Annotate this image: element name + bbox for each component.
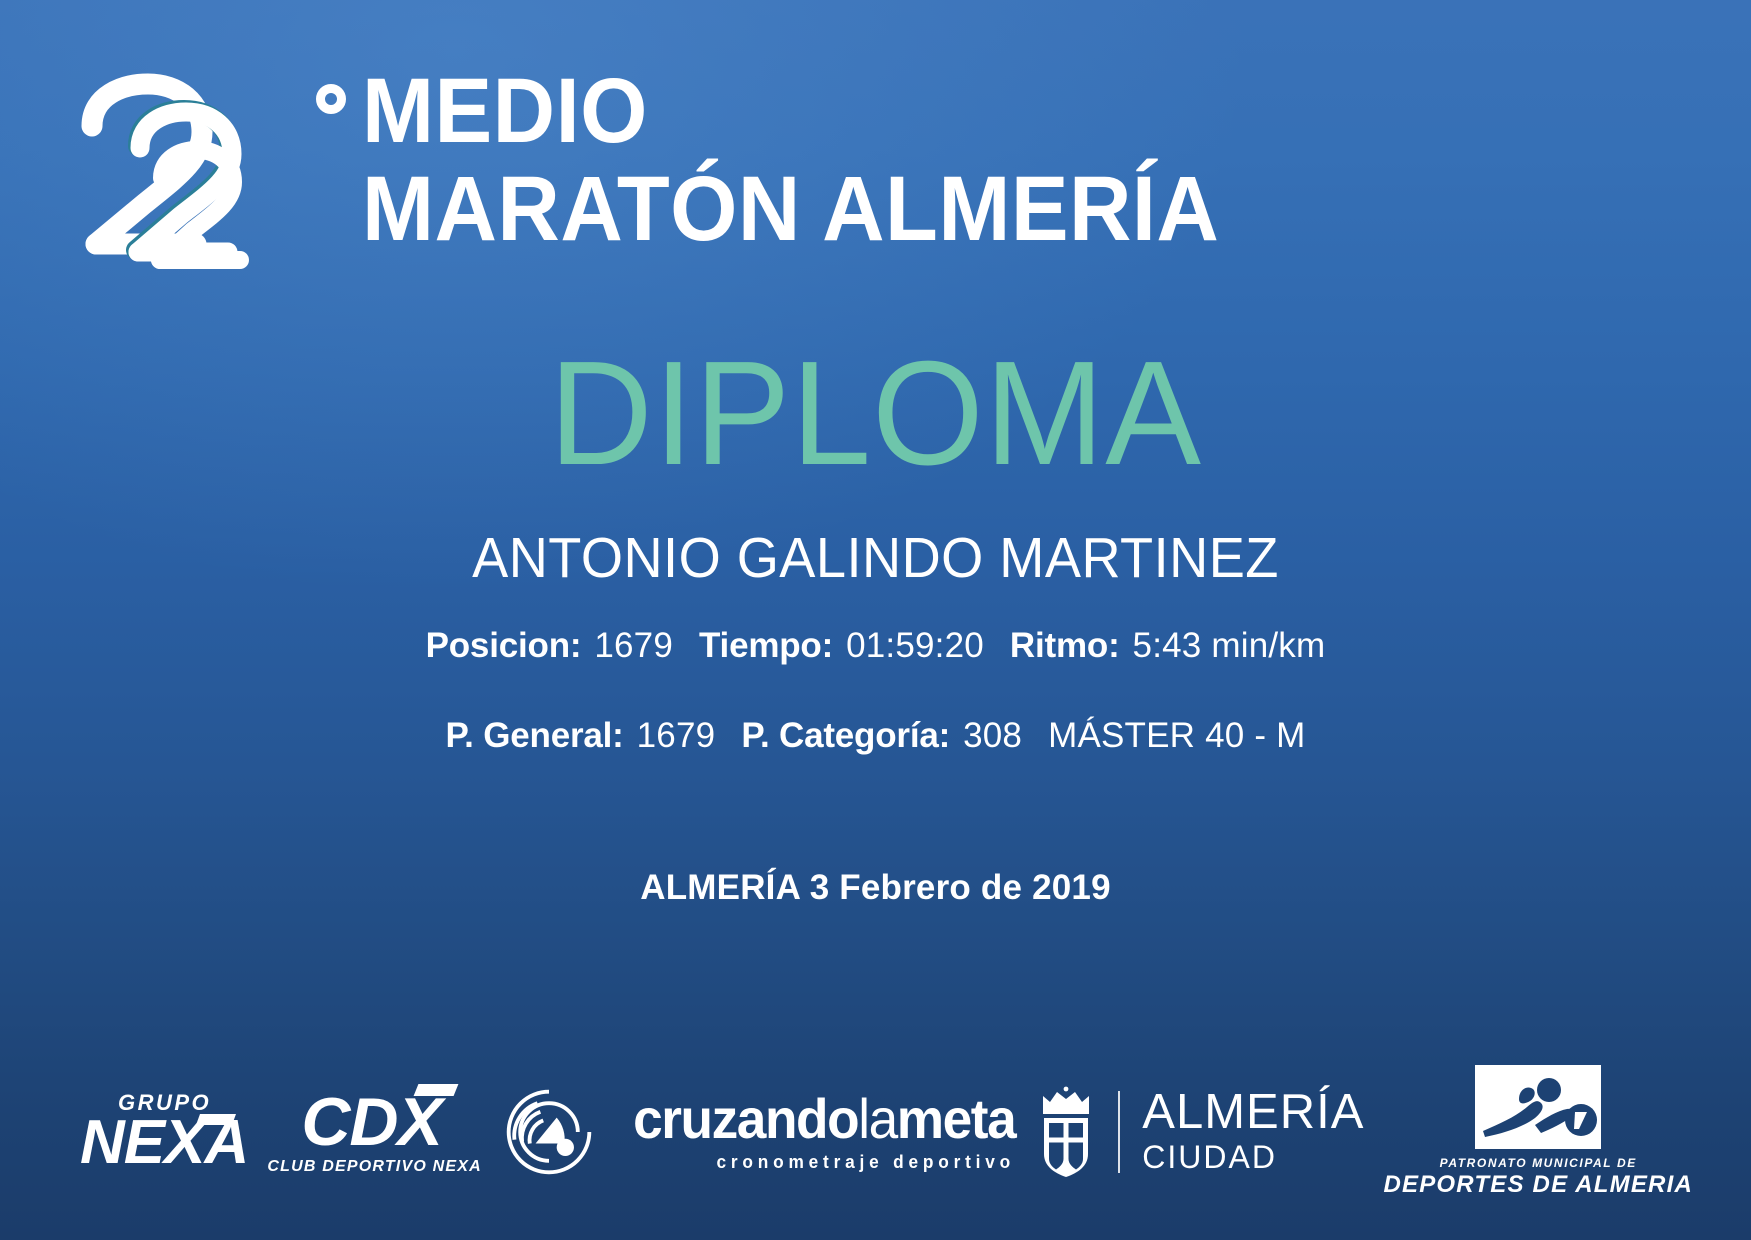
cdx-wordmark: CDX <box>301 1088 448 1156</box>
almeria-coat-of-arms-icon <box>1034 1084 1098 1180</box>
category-name: MÁSTER 40 - M <box>1048 716 1305 755</box>
results-row-secondary: P. General:1679P. Categoría:308MÁSTER 40… <box>0 716 1751 756</box>
position-value: 1679 <box>594 626 673 665</box>
general-position-value: 1679 <box>637 716 716 755</box>
sponsor-logo-cdx: CDX CLUB DEPORTIVO NEXA <box>267 1088 482 1176</box>
event-place-and-date: ALMERÍA 3 Febrero de 2019 <box>0 868 1751 908</box>
patronato-athlete-icon <box>1475 1065 1601 1149</box>
cdx-subtitle: CLUB DEPORTIVO NEXA <box>267 1158 482 1176</box>
general-position-label: P. General: <box>446 716 624 755</box>
patronato-line-2: DEPORTES DE ALMERIA <box>1383 1171 1693 1199</box>
position-label: Posicion: <box>426 626 582 665</box>
sponsor-logo-patronato-deportes: PATRONATO MUNICIPAL DE DEPORTES DE ALMER… <box>1383 1065 1693 1199</box>
cruzandolameta-subtitle: cronometraje deportivo <box>717 1152 1016 1173</box>
almeria-logo-divider <box>1118 1091 1120 1173</box>
patronato-line-1: PATRONATO MUNICIPAL DE <box>1440 1156 1637 1170</box>
nexa-slash-icon <box>196 1114 236 1125</box>
cruzandolameta-part-la: la <box>858 1087 897 1150</box>
cruzandolameta-part-meta: meta <box>897 1087 1015 1150</box>
diploma-certificate: MEDIO MARATÓN ALMERÍA DIPLOMA ANTONIO GA… <box>0 0 1751 1240</box>
diploma-header: MEDIO MARATÓN ALMERÍA <box>78 62 1691 289</box>
event-title: MEDIO MARATÓN ALMERÍA <box>362 66 1691 254</box>
cruzandolameta-wordmark: cruzandolameta <box>633 1091 1015 1147</box>
cdx-slash-icon <box>413 1084 458 1096</box>
almeria-subtitle: CIUDAD <box>1142 1139 1364 1176</box>
degree-symbol-icon <box>316 84 346 114</box>
category-position-value: 308 <box>963 716 1022 755</box>
grupo-nexa-wordmark: NEXA <box>80 1112 248 1174</box>
pace-label: Ritmo: <box>1010 626 1120 665</box>
cruzandolameta-part-cruzando: cruzando <box>633 1087 858 1150</box>
results-row-primary: Posicion:1679Tiempo:01:59:20Ritmo:5:43 m… <box>0 626 1751 666</box>
time-value: 01:59:20 <box>846 626 984 665</box>
event-title-line-2: MARATÓN ALMERÍA <box>362 164 1611 254</box>
event-title-line-1: MEDIO <box>362 66 1611 156</box>
sponsor-logo-almeria-ciudad: ALMERÍA CIUDAD <box>1034 1084 1364 1180</box>
sponsor-logo-strip: GRUPO NEXA CDX CLUB DEPORTIVO NEXA <box>70 1076 1693 1188</box>
runner-name: ANTONIO GALINDO MARTINEZ <box>44 525 1707 591</box>
stopwatch-gauge-icon <box>501 1084 597 1180</box>
time-label: Tiempo: <box>699 626 833 665</box>
document-kind-heading: DIPLOMA <box>26 340 1724 488</box>
almeria-name: ALMERÍA <box>1142 1088 1364 1136</box>
category-position-label: P. Categoría: <box>741 716 950 755</box>
sponsor-logo-grupo-nexa: GRUPO NEXA <box>70 1090 248 1174</box>
edition-22-logo-icon <box>78 74 308 289</box>
sponsor-logo-cruzandolameta: cruzandolameta cronometraje deportivo <box>501 1084 1015 1180</box>
pace-value: 5:43 min/km <box>1133 626 1326 665</box>
